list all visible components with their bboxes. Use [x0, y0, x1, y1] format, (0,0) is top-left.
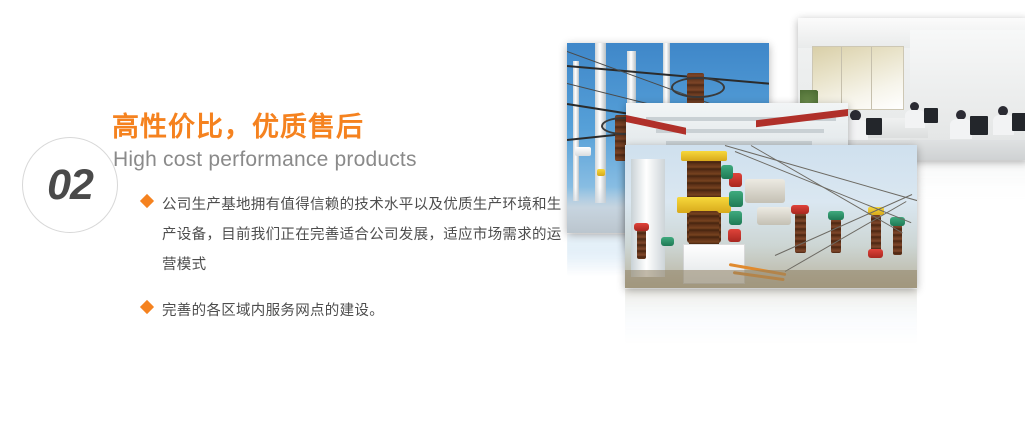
bushing-cylinder: [745, 179, 785, 203]
list-item-label: 完善的各区域内服务网点的建设。: [162, 296, 384, 326]
green-terminal: [729, 191, 743, 207]
red-terminal: [868, 249, 883, 258]
red-terminal: [728, 229, 741, 242]
page-title: 高性价比，优质售后: [112, 112, 364, 143]
page-subtitle: High cost performance products: [113, 148, 417, 172]
reflection-fill: [625, 289, 917, 345]
insulator-cap: [575, 147, 591, 156]
monitor-icon: [866, 118, 882, 135]
monitor-icon: [970, 116, 988, 135]
worker-body: [905, 110, 925, 128]
office-glass-partition: [812, 46, 904, 110]
green-terminal: [721, 165, 733, 179]
list-item-label: 公司生产基地拥有值得信赖的技术水平以及优质生产环境和生产设备，目前我们正在完善适…: [162, 190, 562, 280]
photo-collage: [540, 0, 1025, 340]
list-item: 完善的各区域内服务网点的建设。: [142, 296, 562, 326]
support-pole: [573, 61, 579, 201]
insulator-stack: [795, 213, 806, 253]
yellow-marker: [597, 169, 605, 176]
diamond-icon: [140, 194, 154, 208]
ground-brush: [625, 270, 917, 288]
red-terminal: [791, 205, 809, 214]
monitor-icon: [924, 108, 938, 123]
diamond-icon: [140, 300, 154, 314]
list-item: 公司生产基地拥有值得信赖的技术水平以及优质生产环境和生产设备，目前我们正在完善适…: [142, 190, 562, 280]
equipment-tank: [631, 159, 665, 277]
step-number-badge: 02: [22, 137, 118, 233]
yellow-band: [681, 151, 727, 161]
bushing-cylinder: [757, 207, 791, 225]
worker-body: [950, 119, 972, 139]
red-terminal: [634, 223, 649, 231]
insulator-stack: [637, 229, 646, 259]
photo-reflection: [625, 289, 917, 345]
step-number-label: 02: [47, 164, 93, 207]
insulator-stack: [831, 219, 841, 253]
corona-ring: [671, 77, 725, 98]
green-terminal: [729, 211, 742, 225]
insulator-closeup-photo: [625, 145, 917, 288]
feature-list: 公司生产基地拥有值得信赖的技术水平以及优质生产环境和生产设备，目前我们正在完善适…: [142, 190, 562, 342]
worker-body: [993, 115, 1014, 135]
promo-banner: 02 高性价比，优质售后 High cost performance produ…: [0, 0, 1025, 431]
green-terminal: [661, 237, 674, 246]
green-terminal: [828, 211, 844, 220]
reflection-content: [625, 289, 917, 345]
insulator-closeup-content: [625, 145, 917, 288]
monitor-icon: [1012, 113, 1025, 131]
